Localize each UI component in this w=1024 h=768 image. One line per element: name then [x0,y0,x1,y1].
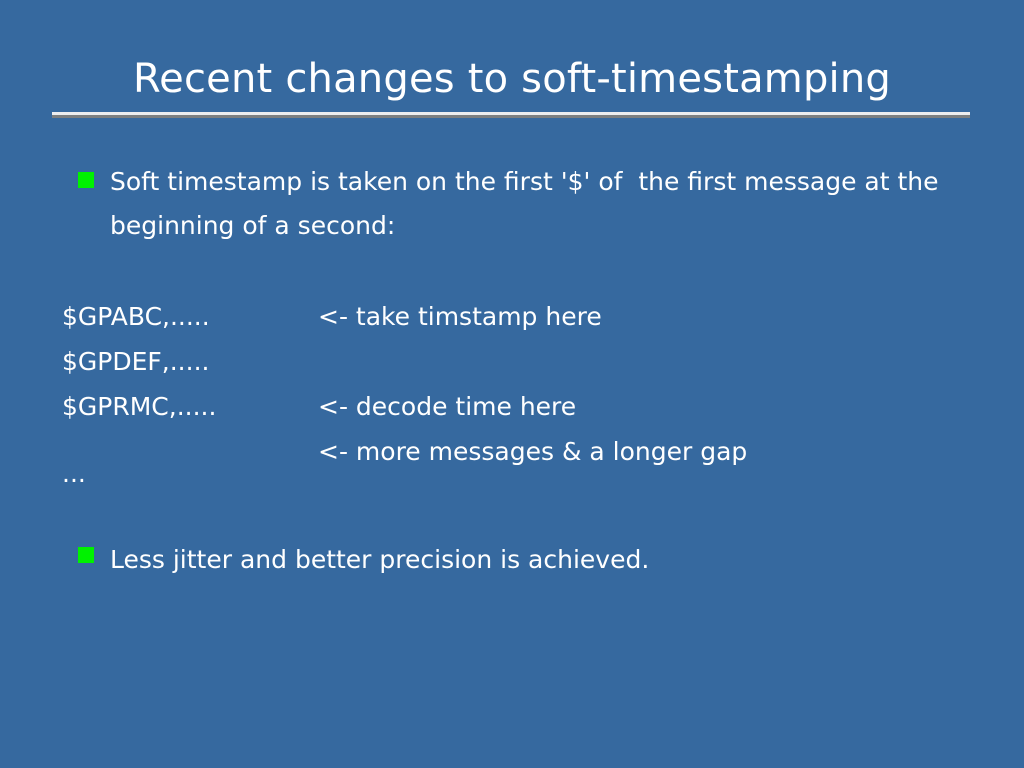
code-message: $GPABC,..... [62,294,318,339]
code-message: $GPDEF,..... [62,339,318,384]
square-bullet-icon [78,547,94,563]
code-annotation: <- decode time here [318,384,1024,429]
bullet-item-less-jitter: Less jitter and better precision is achi… [0,538,1024,582]
code-line: ... <- more messages & a longer gap [62,429,1024,474]
slide-body: Soft timestamp is taken on the first '$'… [0,160,1024,582]
square-bullet-icon [78,172,94,188]
code-line: $GPDEF,..... [62,339,1024,384]
title-underline-divider [52,112,970,118]
code-line: $GPRMC,..... <- decode time here [62,384,1024,429]
code-message: ... [62,451,318,496]
presentation-slide: Recent changes to soft-timestamping Soft… [0,0,1024,768]
code-annotation: <- more messages & a longer gap [318,429,1024,474]
title-block: Recent changes to soft-timestamping [52,52,972,124]
bullet-item-soft-timestamp: Soft timestamp is taken on the first '$'… [0,160,1024,248]
bullet-item-label: Less jitter and better precision is achi… [110,538,964,582]
nmea-message-sample-block: $GPABC,..... <- take timstamp here $GPDE… [0,294,1024,474]
code-message: $GPRMC,..... [62,384,318,429]
page-title: Recent changes to soft-timestamping [52,52,972,106]
code-line: $GPABC,..... <- take timstamp here [62,294,1024,339]
bullet-item-label: Soft timestamp is taken on the first '$'… [110,160,940,248]
code-annotation: <- take timstamp here [318,294,1024,339]
title-rule-shadow [52,115,970,118]
